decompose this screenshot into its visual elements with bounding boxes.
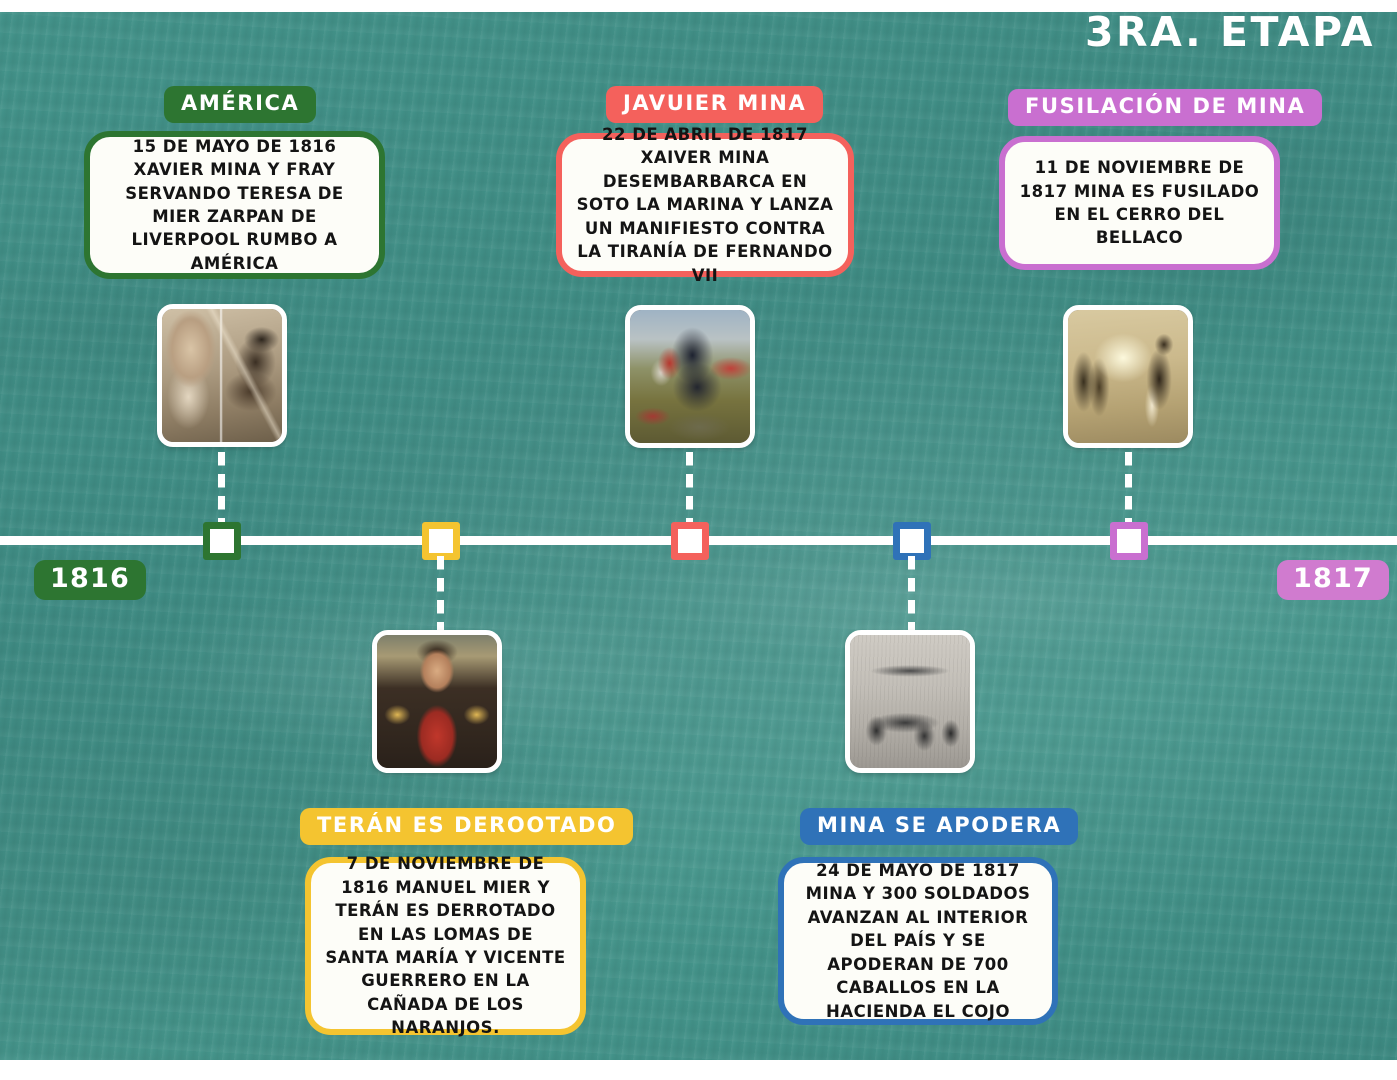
event-label-mina-se-apodera: MINA SE APODERA [800, 808, 1078, 845]
event-card-fusilacion: 11 DE NOVIEMBRE DE 1817 MINA ES FUSILADO… [999, 136, 1280, 270]
timeline-marker-teran[interactable] [422, 522, 460, 560]
event-label-america: AMÉRICA [164, 86, 316, 123]
timeline-marker-javuier-mina[interactable] [671, 522, 709, 560]
event-label-javuier-mina: JAVUIER MINA [606, 86, 823, 123]
event-text-america: 15 DE MAYO DE 1816 XAVIER MINA Y FRAY SE… [104, 135, 365, 276]
event-text-mina-se-apodera: 24 DE MAYO DE 1817 MINA Y 300 SOLDADOS A… [798, 859, 1038, 1023]
timeline-marker-fusilacion[interactable] [1110, 522, 1148, 560]
connector-teran [437, 556, 444, 632]
event-card-teran: 7 DE NOVIEMBRE DE 1816 MANUEL MIER Y TER… [305, 857, 586, 1035]
event-label-fusilacion: FUSILACIÓN DE MINA [1008, 89, 1322, 126]
page-title: 3RA. ETAPA [1085, 8, 1375, 56]
timeline-marker-mina-se-apodera[interactable] [893, 522, 931, 560]
event-card-javuier-mina: 22 DE ABRIL DE 1817 XAIVER MINA DESEMBAR… [556, 133, 854, 277]
event-label-teran: TERÁN ES DEROOTADO [300, 808, 633, 845]
execution-scene-photo [1063, 305, 1193, 448]
battle-scene-photo [625, 305, 755, 448]
event-text-teran: 7 DE NOVIEMBRE DE 1816 MANUEL MIER Y TER… [325, 852, 566, 1039]
event-text-fusilacion: 11 DE NOVIEMBRE DE 1817 MINA ES FUSILADO… [1019, 156, 1260, 250]
event-card-america: 15 DE MAYO DE 1816 XAVIER MINA Y FRAY SE… [84, 131, 385, 279]
connector-mina-se-apodera [908, 556, 915, 632]
timeline-infographic: 3RA. ETAPA 1816 1817 AMÉRICA 15 DE MAYO … [0, 0, 1397, 1080]
marching-troops-photo [845, 630, 975, 773]
event-text-javuier-mina: 22 DE ABRIL DE 1817 XAIVER MINA DESEMBAR… [576, 123, 834, 287]
portrait-and-horseman-photo [157, 304, 287, 447]
event-card-mina-se-apodera: 24 DE MAYO DE 1817 MINA Y 300 SOLDADOS A… [778, 857, 1058, 1025]
timeline-start-year-badge: 1816 [34, 560, 146, 600]
timeline-marker-america[interactable] [203, 522, 241, 560]
timeline-end-year-badge: 1817 [1277, 560, 1389, 600]
officer-portrait-photo [372, 630, 502, 773]
